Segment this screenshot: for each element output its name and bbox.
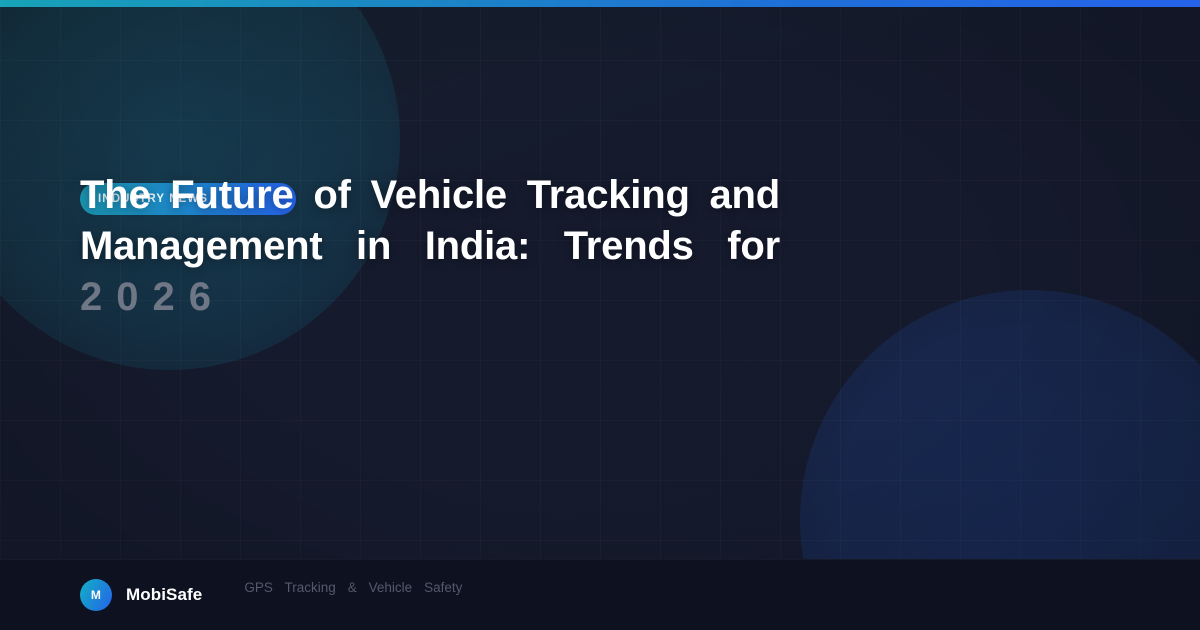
og-card: INDUSTRY NEWS The Future of Vehicle Trac… [0, 0, 1200, 630]
brand-name: MobiSafe [126, 585, 202, 605]
brand-tagline: GPS Tracking & Vehicle Safety [244, 580, 462, 610]
page-title: The Future of Vehicle Tracking and Manag… [80, 170, 780, 374]
hero-title-block: The Future of Vehicle Tracking and Manag… [80, 170, 780, 374]
top-accent-bar [0, 0, 1200, 7]
brand-logo-initial: M [91, 588, 101, 602]
page-title-main: The Future of Vehicle Tracking and Manag… [80, 173, 780, 268]
brand-logo-icon: M [80, 579, 112, 611]
brand-lockup[interactable]: M MobiSafe [80, 579, 202, 611]
footer-bar: M MobiSafe GPS Tracking & Vehicle Safety [0, 559, 1200, 630]
page-title-year: 2026 [80, 275, 225, 319]
